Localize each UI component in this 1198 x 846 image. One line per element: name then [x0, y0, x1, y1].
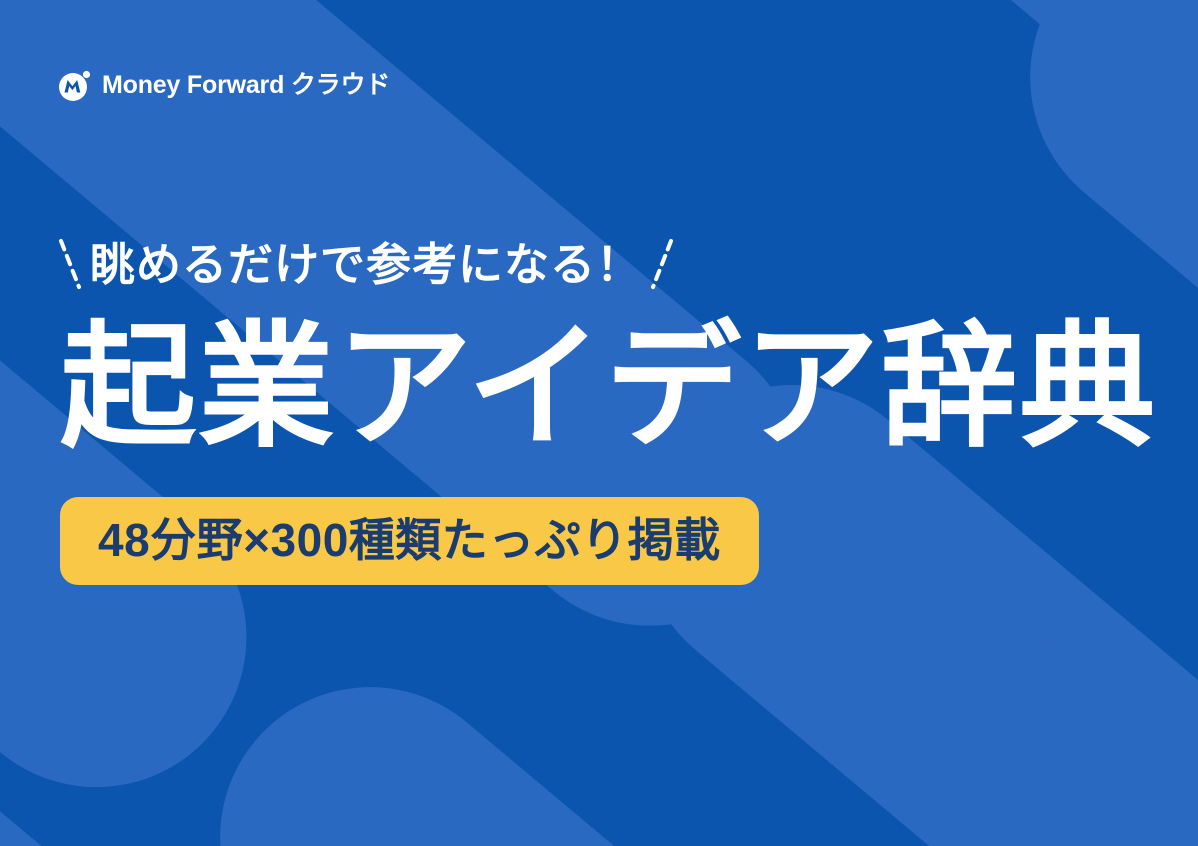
money-forward-cloud-logo: Money Forward クラウド [58, 66, 390, 104]
circle-bottom-right [910, 640, 1170, 846]
logo-wordmark: Money Forward クラウド [102, 73, 390, 98]
money-forward-circle-mark [58, 68, 92, 102]
diagonal-pill-bottom-center [159, 626, 1041, 846]
promo-banner: Money Forward クラウド 眺めるだけで参考になる！ 起業アイデア辞典… [0, 0, 1198, 846]
status-badge: 48分野×300種類たっぷり掲載 [60, 497, 759, 585]
right-slash-decoration [648, 236, 674, 292]
eyebrow-text: 眺めるだけで参考になる！ [84, 242, 648, 287]
left-slash-decoration [58, 236, 84, 292]
hero-copy: 眺めるだけで参考になる！ 起業アイデア辞典 48分野×300種類たっぷり掲載 [58, 228, 1148, 585]
diagonal-pill-bottom-left [0, 600, 285, 846]
page-title: 起業アイデア辞典 [60, 316, 1148, 459]
eyebrow-row: 眺めるだけで参考になる！ [58, 228, 1148, 300]
